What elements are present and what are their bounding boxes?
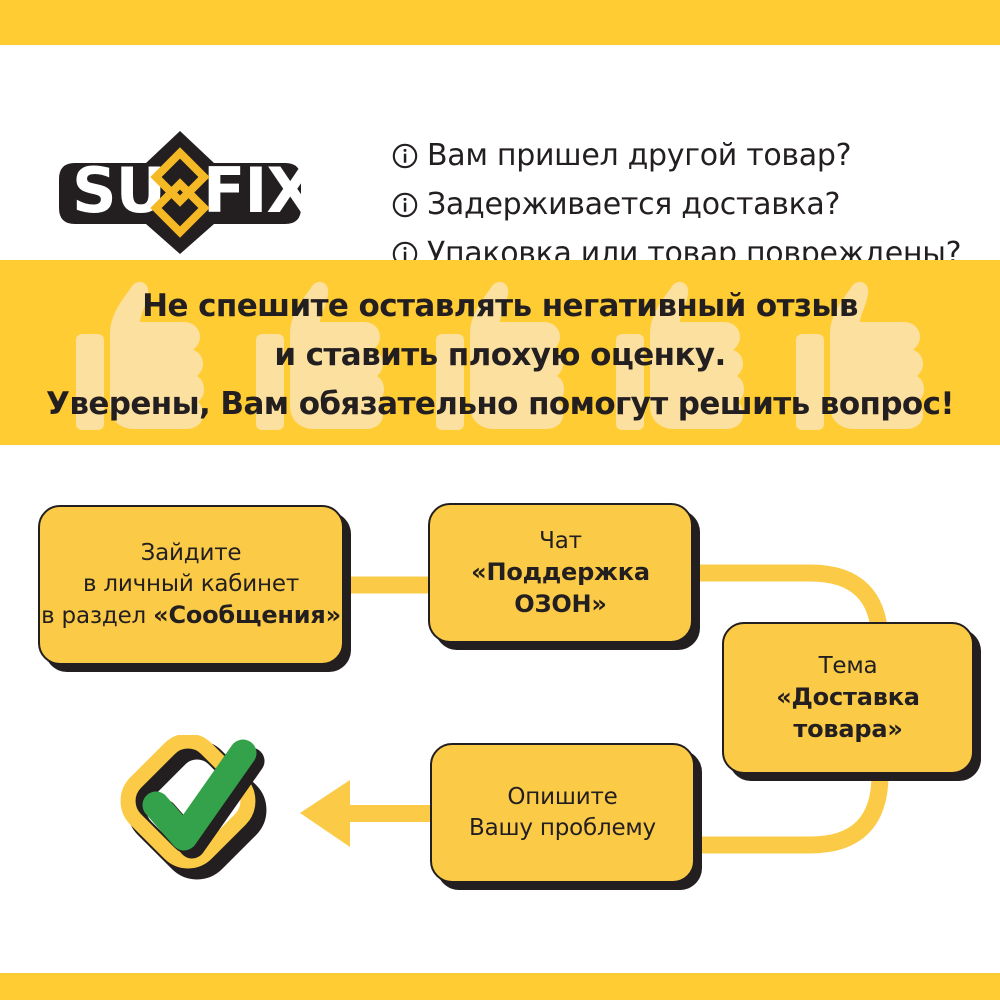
step-line: Опишите — [507, 784, 617, 810]
step-text: Тема «Доставка товара» — [724, 651, 972, 746]
header-section: SU FIX Вам пришел дру — [0, 45, 1000, 260]
step-line: в личный кабинет — [83, 571, 299, 597]
warning-banner: Не спешите оставлять негативный отзыв и … — [0, 260, 1000, 445]
step-line: Зайдите — [141, 540, 242, 566]
step-line: Чат — [539, 528, 582, 554]
svg-text:SU: SU — [72, 154, 165, 227]
step-describe-problem[interactable]: Опишите Вашу проблему — [430, 743, 695, 883]
step-line-emphasis: «Поддержка ОЗОН» — [471, 558, 650, 618]
step-text: Опишите Вашу проблему — [469, 782, 656, 844]
question-text: Задерживается доставка? — [427, 186, 840, 224]
banner-line-2: и ставить плохую оценку. — [0, 331, 1000, 380]
question-item: Вам пришел другой товар? — [392, 137, 992, 180]
question-item: Задерживается доставка? — [392, 186, 992, 229]
step-line: Вашу проблему — [469, 815, 656, 841]
step-line: Тема — [819, 653, 878, 679]
step-text: Зайдите в личный кабинет в раздел «Сообщ… — [41, 538, 341, 632]
info-icon — [392, 143, 418, 169]
banner-text: Не спешите оставлять негативный отзыв и … — [0, 282, 1000, 429]
svg-text:FIX: FIX — [203, 154, 313, 227]
step-text: Чат «Поддержка ОЗОН» — [430, 526, 691, 621]
poster-root: SU FIX Вам пришел дру — [0, 0, 1000, 1000]
green-checkmark-icon — [110, 735, 290, 895]
step-enter-account[interactable]: Зайдите в личный кабинет в раздел «Сообщ… — [38, 505, 344, 665]
step-line: в раздел — [41, 603, 153, 629]
arrow-left-icon — [300, 780, 440, 847]
step-line-emphasis: «Доставка товара» — [776, 683, 920, 743]
banner-line-3: Уверены, Вам обязательно помогут решить … — [0, 380, 1000, 429]
flow-section: Зайдите в личный кабинет в раздел «Сообщ… — [0, 445, 1000, 973]
question-text: Вам пришел другой товар? — [427, 137, 851, 175]
info-icon — [392, 192, 418, 218]
top-accent-bar — [0, 0, 1000, 45]
step-line-emphasis: «Сообщения» — [153, 601, 341, 629]
step-chat-support[interactable]: Чат «Поддержка ОЗОН» — [428, 503, 693, 643]
bottom-accent-bar — [0, 973, 1000, 1000]
banner-line-1: Не спешите оставлять негативный отзыв — [0, 282, 1000, 331]
brand-logo: SU FIX — [40, 125, 320, 260]
step-topic-delivery[interactable]: Тема «Доставка товара» — [722, 622, 974, 774]
